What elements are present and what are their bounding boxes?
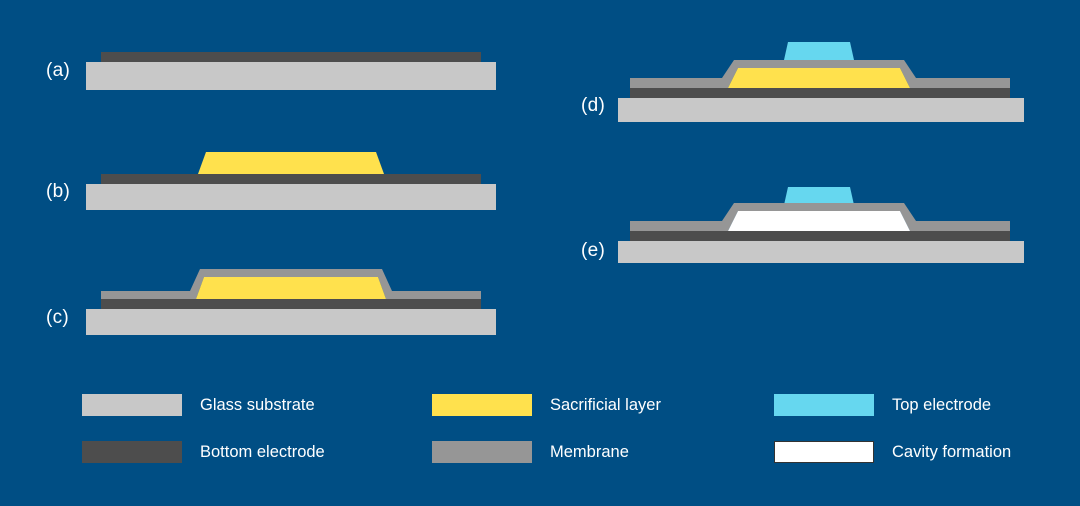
panel-c-stack — [86, 265, 496, 335]
bottom-electrode-layer — [101, 299, 481, 309]
panel-label-b: (b) — [46, 181, 70, 203]
panel-label-a: (a) — [46, 60, 70, 82]
cavity-formation-shape — [728, 211, 910, 231]
panel-label-e: (e) — [581, 240, 605, 262]
legend-item-top-electrode: Top electrode — [774, 394, 991, 416]
legend-swatch-glass-substrate — [82, 394, 182, 416]
glass-substrate-layer — [618, 241, 1024, 263]
top-electrode-shape — [784, 187, 854, 205]
bottom-electrode-layer — [101, 174, 481, 184]
sacrificial-layer-shape — [196, 277, 386, 299]
sacrificial-layer-shape — [198, 152, 384, 174]
legend-item-glass-substrate: Glass substrate — [82, 394, 315, 416]
panel-b-stack — [86, 148, 496, 210]
legend-item-sacrificial-layer: Sacrificial layer — [432, 394, 661, 416]
glass-substrate-layer — [86, 309, 496, 335]
legend-item-cavity-formation: Cavity formation — [774, 441, 1011, 463]
legend-swatch-top-electrode — [774, 394, 874, 416]
legend-swatch-cavity-formation — [774, 441, 874, 463]
top-electrode-shape — [784, 42, 854, 60]
legend-label-sacrificial-layer: Sacrificial layer — [550, 396, 661, 415]
panel-d-stack — [618, 38, 1024, 122]
legend-swatch-sacrificial-layer — [432, 394, 532, 416]
panel-label-d: (d) — [581, 95, 605, 117]
panel-e-stack — [618, 183, 1024, 263]
legend-label-membrane: Membrane — [550, 443, 629, 462]
glass-substrate-layer — [618, 98, 1024, 122]
sacrificial-layer-shape — [728, 68, 910, 88]
legend-item-bottom-electrode: Bottom electrode — [82, 441, 325, 463]
panel-label-c: (c) — [46, 307, 69, 329]
bottom-electrode-layer — [630, 88, 1010, 98]
process-flow-figure: (a) (b) (c) (d) (e) Glass subs — [0, 0, 1080, 506]
legend-label-bottom-electrode: Bottom electrode — [200, 443, 325, 462]
glass-substrate-layer — [86, 184, 496, 210]
glass-substrate-layer — [86, 62, 496, 90]
legend-label-cavity-formation: Cavity formation — [892, 443, 1011, 462]
bottom-electrode-layer — [630, 231, 1010, 241]
legend-label-glass-substrate: Glass substrate — [200, 396, 315, 415]
panel-a-stack — [86, 52, 496, 92]
bottom-electrode-layer — [101, 52, 481, 62]
legend-swatch-bottom-electrode — [82, 441, 182, 463]
legend-swatch-membrane — [432, 441, 532, 463]
legend-item-membrane: Membrane — [432, 441, 629, 463]
legend-label-top-electrode: Top electrode — [892, 396, 991, 415]
